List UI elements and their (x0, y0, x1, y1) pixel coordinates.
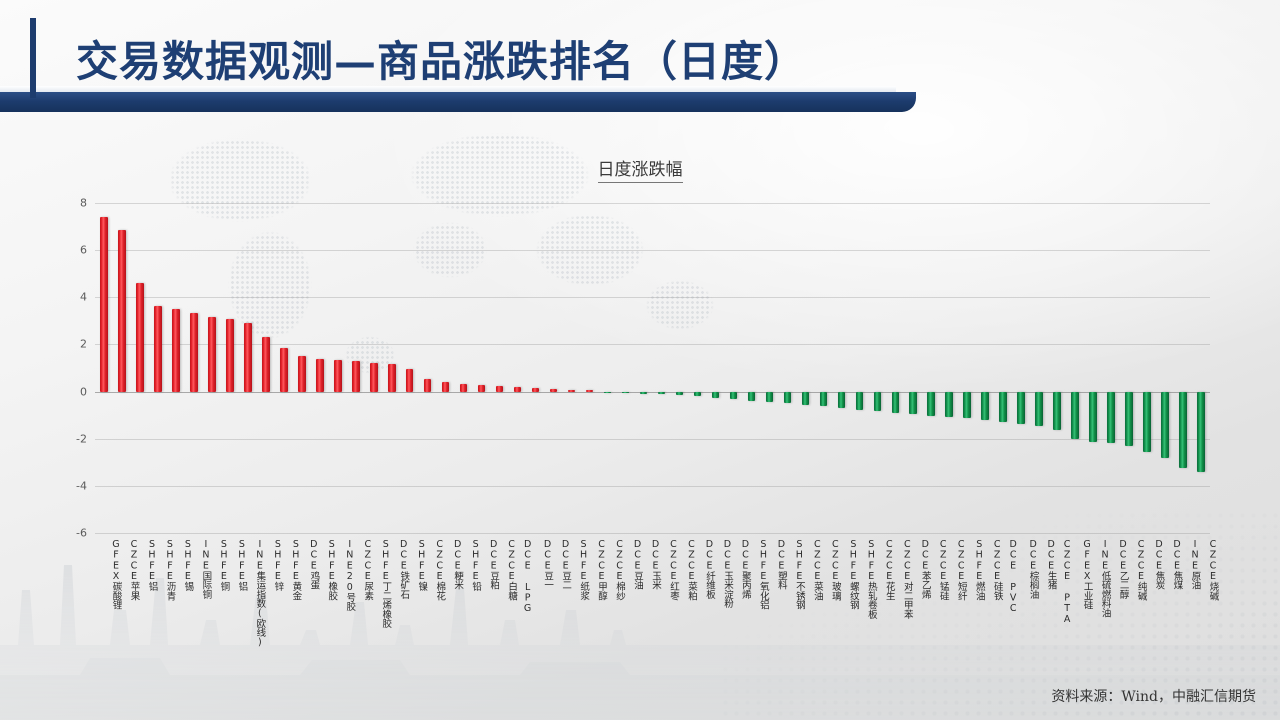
chart-bar (424, 203, 432, 533)
chart-bar (981, 203, 989, 533)
title-bar-accent (0, 92, 916, 112)
x-axis-tick-label: DCE生猪 (1044, 539, 1058, 590)
x-axis-tick-label: SHFE不锈钢 (792, 539, 806, 609)
bar-positive (208, 317, 216, 392)
chart-bar (154, 203, 162, 533)
bar-negative (1107, 392, 1115, 443)
page-title: 交易数据观测—商品涨跌排名（日度） (76, 28, 807, 89)
bar-negative (927, 392, 935, 416)
bar-negative (694, 392, 702, 397)
chart-bar (694, 203, 702, 533)
chart-bar (208, 203, 216, 533)
bar-negative (1071, 392, 1079, 440)
chart-bar (1125, 203, 1133, 533)
x-axis-tick-label: CZCE玻璃 (828, 539, 842, 600)
chart-bar (388, 203, 396, 533)
x-axis-tick-label: CZCE PTA (1062, 539, 1073, 625)
x-axis-tick-label: SHFE锌 (270, 539, 284, 591)
chart-plot-area: 86420-2-4-6 GFEX碳酸锂CZCE苹果SHFE铝SHFE沥青SHFE… (95, 203, 1210, 533)
bar-negative (981, 392, 989, 421)
y-axis-tick-label: -2 (76, 432, 87, 445)
bar-negative (640, 392, 648, 394)
chart-bar (532, 203, 540, 533)
x-axis-tick-label: SHFE黄金 (288, 539, 302, 600)
bar-positive (244, 323, 252, 392)
x-axis-tick-label: CZCE甲醇 (594, 539, 608, 600)
chart-bar (730, 203, 738, 533)
chart-bar (1089, 203, 1097, 533)
x-axis-tick-label: CZCE花生 (882, 539, 896, 600)
y-axis-tick-label: -6 (76, 527, 87, 540)
chart-bar (945, 203, 953, 533)
x-axis-tick-label: DCE豆二 (558, 539, 572, 590)
bar-negative (1197, 392, 1205, 472)
chart-bar (298, 203, 306, 533)
chart-bar (478, 203, 486, 533)
chart-bar (766, 203, 774, 533)
bar-negative (676, 392, 684, 396)
y-axis-tick-label: 2 (80, 338, 87, 351)
chart-bar (963, 203, 971, 533)
chart-bar (892, 203, 900, 533)
x-axis-tick-label: SHFE铝 (234, 539, 248, 591)
bar-negative (1089, 392, 1097, 442)
x-axis-tick-label: DCE聚丙烯 (738, 539, 752, 599)
x-axis-tick-label: CZCE白糖 (504, 539, 518, 600)
x-axis-tick-label: INE集运指数(欧线) (252, 539, 266, 648)
chart-bar (586, 203, 594, 533)
chart-bar (334, 203, 342, 533)
chart-bar (280, 203, 288, 533)
x-axis-tick-label: CZCE红枣 (666, 539, 680, 600)
bar-positive (316, 359, 324, 392)
x-axis-tick-label: DCE苯乙烯 (918, 539, 932, 599)
x-axis-tick-label: CZCE纯碱 (1134, 539, 1148, 600)
chart-bar (352, 203, 360, 533)
bar-negative (712, 392, 720, 398)
bar-positive (334, 360, 342, 391)
chart-bar (100, 203, 108, 533)
chart-bar (1071, 203, 1079, 533)
x-axis-tick-label: CZCE锰硅 (936, 539, 950, 600)
bar-positive (136, 283, 144, 391)
slide-canvas: 交易数据观测—商品涨跌排名（日度） 日度涨跌幅 86420-2-4-6 GFEX… (0, 0, 1280, 720)
bar-positive (460, 384, 468, 392)
bar-negative (604, 392, 612, 394)
x-axis-tick-label: SHFE热轧卷板 (864, 539, 878, 619)
bar-negative (730, 392, 738, 400)
chart-bar (460, 203, 468, 533)
bar-negative (1017, 392, 1025, 425)
chart-bar (1017, 203, 1025, 533)
chart-bar (856, 203, 864, 533)
x-axis-tick-label: CZCE烧碱 (1206, 539, 1220, 600)
chart-title: 日度涨跌幅 (0, 155, 1280, 180)
bar-positive (298, 356, 306, 392)
chart-bar (1107, 203, 1115, 533)
bar-positive (514, 387, 522, 391)
chart-bar (442, 203, 450, 533)
chart-bar (909, 203, 917, 533)
x-axis-tick-label: DCE玉米 (648, 539, 662, 590)
y-axis-tick-label: -4 (76, 479, 87, 492)
x-axis-tick-label: DCE LPG (522, 539, 533, 614)
chart-bar (802, 203, 810, 533)
chart-bar (927, 203, 935, 533)
bar-positive (226, 319, 234, 392)
x-axis-tick-label: DCE PVC (1008, 539, 1019, 614)
chart-bars (95, 203, 1210, 533)
x-axis-tick-label: SHFE氧化铝 (756, 539, 770, 609)
x-axis-tick-label: DCE塑料 (774, 539, 788, 590)
chart-bar (820, 203, 828, 533)
chart-bar (496, 203, 504, 533)
title-left-rule (30, 18, 36, 98)
chart-bar (784, 203, 792, 533)
x-axis-tick-label: DCE焦炭 (1152, 539, 1166, 590)
chart-bar (622, 203, 630, 533)
bar-positive (496, 386, 504, 391)
bar-positive (478, 385, 486, 391)
bar-negative (784, 392, 792, 404)
chart-bar (640, 203, 648, 533)
x-axis-tick-label: CZCE短纤 (954, 539, 968, 600)
x-axis-tick-label: INE原油 (1188, 539, 1202, 590)
x-axis-tick-label: SHFE丁二烯橡胶 (378, 539, 392, 628)
bar-negative (1161, 392, 1169, 458)
x-axis-tick-label: GFEX碳酸锂 (108, 539, 122, 609)
bar-positive (370, 363, 378, 391)
x-axis-tick-label: CZCE苹果 (126, 539, 140, 600)
chart-bar (1035, 203, 1043, 533)
x-axis-tick-label: DCE豆一 (540, 539, 554, 590)
x-axis-tick-label: CZCE尿素 (360, 539, 374, 600)
bar-negative (892, 392, 900, 413)
x-axis-tick-label: CZCE棉纱 (612, 539, 626, 600)
x-axis-tick-label: SHFE铝 (144, 539, 158, 591)
x-axis-tick-label: CZCE菜粕 (684, 539, 698, 600)
bar-positive (406, 369, 414, 391)
x-axis-tick-label: SHFE锡 (180, 539, 194, 591)
chart-bar (226, 203, 234, 533)
y-axis-tick-label: 4 (80, 291, 87, 304)
x-axis-tick-label: DCE乙二醇 (1116, 539, 1130, 599)
x-axis-tick-label: SHFE螺纹钢 (846, 539, 860, 609)
bar-negative (838, 392, 846, 409)
chart-bar (1143, 203, 1151, 533)
x-axis-tick-label: SHFE铜 (216, 539, 230, 591)
bar-negative (622, 392, 630, 394)
chart-bar (658, 203, 666, 533)
x-axis-tick-label: DCE铁矿石 (396, 539, 410, 599)
bar-negative (820, 392, 828, 407)
chart-bar (999, 203, 1007, 533)
chart-bar (1161, 203, 1169, 533)
chart-bar (604, 203, 612, 533)
bar-positive (532, 388, 540, 391)
chart-bar (172, 203, 180, 533)
x-axis-tick-label: SHFE铅 (468, 539, 482, 591)
x-axis-tick-label: DCE粳米 (450, 539, 464, 590)
bar-positive (118, 230, 126, 392)
y-axis-tick-label: 0 (80, 385, 87, 398)
x-axis-tick-label: INE国际铜 (198, 539, 212, 599)
y-axis-tick-label: 8 (80, 197, 87, 210)
x-axis-tick-label: SHFE沥青 (162, 539, 176, 600)
x-axis-tick-label: INE20号胶 (342, 539, 356, 611)
x-axis-tick-label: SHFE燃油 (972, 539, 986, 600)
x-axis-tick-label: DCE焦煤 (1170, 539, 1184, 590)
bar-negative (748, 392, 756, 401)
chart-bar (370, 203, 378, 533)
bar-positive (586, 390, 594, 392)
x-axis-tick-label: DCE鸡蛋 (306, 539, 320, 590)
x-axis-tick-label: CZCE硅铁 (990, 539, 1004, 600)
bar-negative (945, 392, 953, 417)
chart-bar (712, 203, 720, 533)
chart-bar (1197, 203, 1205, 533)
gridline (95, 533, 1210, 534)
y-axis-tick-label: 6 (80, 244, 87, 257)
bar-negative (1035, 392, 1043, 426)
x-axis-tick-label: SHFE纸浆 (576, 539, 590, 600)
bar-negative (1143, 392, 1151, 452)
bar-negative (856, 392, 864, 410)
chart-bar (1179, 203, 1187, 533)
bar-positive (154, 306, 162, 392)
bar-positive (352, 361, 360, 391)
chart-bar (874, 203, 882, 533)
x-axis-tick-label: CZCE菜油 (810, 539, 824, 600)
chart-bar (244, 203, 252, 533)
bar-negative (802, 392, 810, 405)
chart-bar (838, 203, 846, 533)
x-axis-tick-label: CZCE棉花 (432, 539, 446, 600)
bar-negative (1125, 392, 1133, 446)
chart-title-text: 日度涨跌幅 (598, 160, 683, 183)
bar-negative (658, 392, 666, 395)
bar-positive (424, 379, 432, 392)
chart-bar (406, 203, 414, 533)
chart-bar (316, 203, 324, 533)
bar-positive (388, 364, 396, 391)
chart-bar (118, 203, 126, 533)
chart-bar (748, 203, 756, 533)
chart-bar (514, 203, 522, 533)
chart-bar (262, 203, 270, 533)
bar-negative (766, 392, 774, 402)
chart-bar (568, 203, 576, 533)
x-axis-tick-label: CZCE对二甲苯 (900, 539, 914, 619)
chart-bar (136, 203, 144, 533)
bar-negative (963, 392, 971, 419)
x-axis-tick-label: DCE纤维板 (702, 539, 716, 599)
x-axis-tick-label: DCE棕榈油 (1026, 539, 1040, 599)
chart-bar (550, 203, 558, 533)
chart-bar (190, 203, 198, 533)
x-axis-tick-label: DCE豆油 (630, 539, 644, 590)
x-axis-tick-label: SHFE镍 (414, 539, 428, 591)
bar-positive (100, 217, 108, 392)
x-axis-tick-label: SHFE橡胶 (324, 539, 338, 600)
source-note: 资料来源：Wind，中融汇信期货 (1051, 686, 1256, 706)
chart-bar (1053, 203, 1061, 533)
bar-positive (550, 389, 558, 391)
x-axis-tick-label: INE低硫燃料油 (1098, 539, 1112, 617)
x-axis-tick-label: GFEX工业硅 (1080, 539, 1094, 609)
bar-positive (190, 313, 198, 392)
bar-negative (1053, 392, 1061, 430)
bar-positive (262, 337, 270, 391)
bar-negative (909, 392, 917, 415)
x-axis-tick-label: DCE玉米淀粉 (720, 539, 734, 608)
bar-positive (568, 390, 576, 392)
bar-positive (442, 382, 450, 392)
bar-negative (999, 392, 1007, 423)
x-axis-tick-label: DCE豆粕 (486, 539, 500, 590)
bar-positive (280, 348, 288, 392)
bar-negative (1179, 392, 1187, 469)
bar-negative (874, 392, 882, 412)
bar-positive (172, 309, 180, 392)
chart-bar (676, 203, 684, 533)
